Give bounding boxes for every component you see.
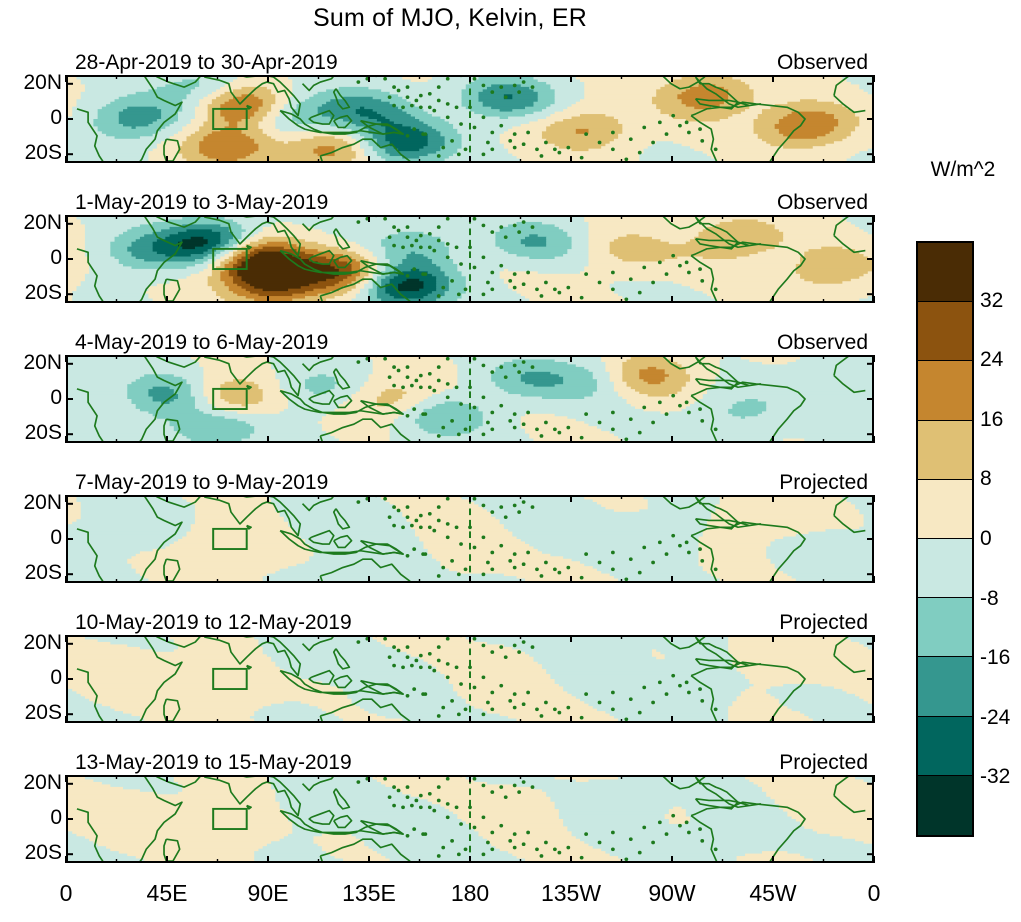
anomaly-field: [68, 217, 872, 301]
colorbar-tick-label: -8: [980, 587, 999, 611]
x-tick-label: 45W: [749, 880, 796, 907]
y-tick-label: 0: [2, 667, 62, 688]
y-tick-label: 20S: [2, 142, 62, 163]
colorbar-band-6: [918, 598, 972, 657]
y-tick-label: 20S: [2, 422, 62, 443]
panel-date-label: 28-Apr-2019 to 30-Apr-2019: [73, 51, 340, 75]
colorbar-band-4: [918, 480, 972, 539]
colorbar-tick-label: 32: [980, 289, 1003, 313]
y-axis-3: 20N020S: [0, 355, 62, 443]
y-tick-label: 20N: [2, 772, 62, 793]
y-tick-label: 20N: [2, 72, 62, 93]
y-axis-5: 20N020S: [0, 635, 62, 723]
map-panel-4: [66, 495, 874, 583]
map-panel-1: [66, 75, 874, 163]
colorbar-tick-label: -32: [980, 765, 1010, 789]
y-tick-label: 20N: [2, 352, 62, 373]
x-axis: 045E90E135E180135W90W45W0: [66, 880, 874, 914]
x-tick-label: 180: [451, 880, 489, 907]
panel-status-label: Observed: [775, 331, 870, 355]
y-axis-4: 20N020S: [0, 495, 62, 583]
map-panel-5: [66, 635, 874, 723]
x-tick-label: 135E: [342, 880, 396, 907]
y-tick-label: 20S: [2, 562, 62, 583]
colorbar-band-0: [918, 243, 972, 302]
colorbar-tick-label: -24: [980, 706, 1010, 730]
y-tick-label: 20S: [2, 702, 62, 723]
x-tick-label: 0: [60, 880, 73, 907]
panel-status-label: Observed: [775, 191, 870, 215]
colorbar: [916, 241, 974, 837]
map-panel-2: [66, 215, 874, 303]
colorbar-tick-label: 8: [980, 467, 992, 491]
y-tick-label: 20N: [2, 632, 62, 653]
anomaly-field: [68, 357, 872, 441]
y-axis-2: 20N020S: [0, 215, 62, 303]
y-tick-label: 0: [2, 247, 62, 268]
panel-status-label: Projected: [777, 611, 870, 635]
panel-header-1: 28-Apr-2019 to 30-Apr-2019Observed: [66, 49, 874, 75]
y-tick-label: 0: [2, 527, 62, 548]
figure-root: Sum of MJO, Kelvin, ER 28-Apr-2019 to 30…: [0, 0, 1021, 922]
anomaly-field: [68, 497, 872, 581]
panel-status-label: Projected: [777, 751, 870, 775]
colorbar-band-5: [918, 539, 972, 598]
colorbar-units: W/m^2: [905, 158, 1021, 182]
panel-date-label: 1-May-2019 to 3-May-2019: [73, 191, 330, 215]
y-tick-label: 20S: [2, 842, 62, 863]
x-tick-label: 90E: [248, 880, 289, 907]
panel-header-3: 4-May-2019 to 6-May-2019Observed: [66, 329, 874, 355]
panel-date-label: 4-May-2019 to 6-May-2019: [73, 331, 330, 355]
x-tick-label: 135W: [541, 880, 601, 907]
x-tick-label: 45E: [147, 880, 188, 907]
panel-date-label: 13-May-2019 to 15-May-2019: [73, 751, 354, 775]
y-axis-1: 20N020S: [0, 75, 62, 163]
panel-date-label: 7-May-2019 to 9-May-2019: [73, 471, 330, 495]
colorbar-band-1: [918, 302, 972, 361]
colorbar-tick-labels: 32241680-8-16-24-32: [980, 241, 1021, 837]
map-panel-6: [66, 775, 874, 863]
panel-date-label: 10-May-2019 to 12-May-2019: [73, 611, 354, 635]
anomaly-field: [68, 637, 872, 721]
panel-header-5: 10-May-2019 to 12-May-2019Projected: [66, 609, 874, 635]
panel-header-6: 13-May-2019 to 15-May-2019Projected: [66, 749, 874, 775]
map-panel-3: [66, 355, 874, 443]
figure-title: Sum of MJO, Kelvin, ER: [0, 4, 900, 33]
y-tick-label: 20N: [2, 492, 62, 513]
colorbar-band-3: [918, 421, 972, 480]
colorbar-band-9: [918, 776, 972, 835]
colorbar-band-2: [918, 361, 972, 420]
colorbar-tick-label: 16: [980, 408, 1003, 432]
x-tick-label: 90W: [648, 880, 695, 907]
anomaly-field: [68, 77, 872, 161]
y-tick-label: 20N: [2, 212, 62, 233]
y-tick-label: 20S: [2, 282, 62, 303]
anomaly-field: [68, 777, 872, 861]
panel-header-4: 7-May-2019 to 9-May-2019Projected: [66, 469, 874, 495]
y-tick-label: 0: [2, 107, 62, 128]
colorbar-tick-label: 0: [980, 527, 992, 551]
panel-status-label: Observed: [775, 51, 870, 75]
y-tick-label: 0: [2, 807, 62, 828]
colorbar-band-8: [918, 717, 972, 776]
x-tick-label: 0: [868, 880, 881, 907]
colorbar-tick-label: -16: [980, 646, 1010, 670]
y-axis-6: 20N020S: [0, 775, 62, 863]
colorbar-tick-label: 24: [980, 348, 1003, 372]
panel-status-label: Projected: [777, 471, 870, 495]
panel-header-2: 1-May-2019 to 3-May-2019Observed: [66, 189, 874, 215]
y-tick-label: 0: [2, 387, 62, 408]
colorbar-band-7: [918, 657, 972, 716]
